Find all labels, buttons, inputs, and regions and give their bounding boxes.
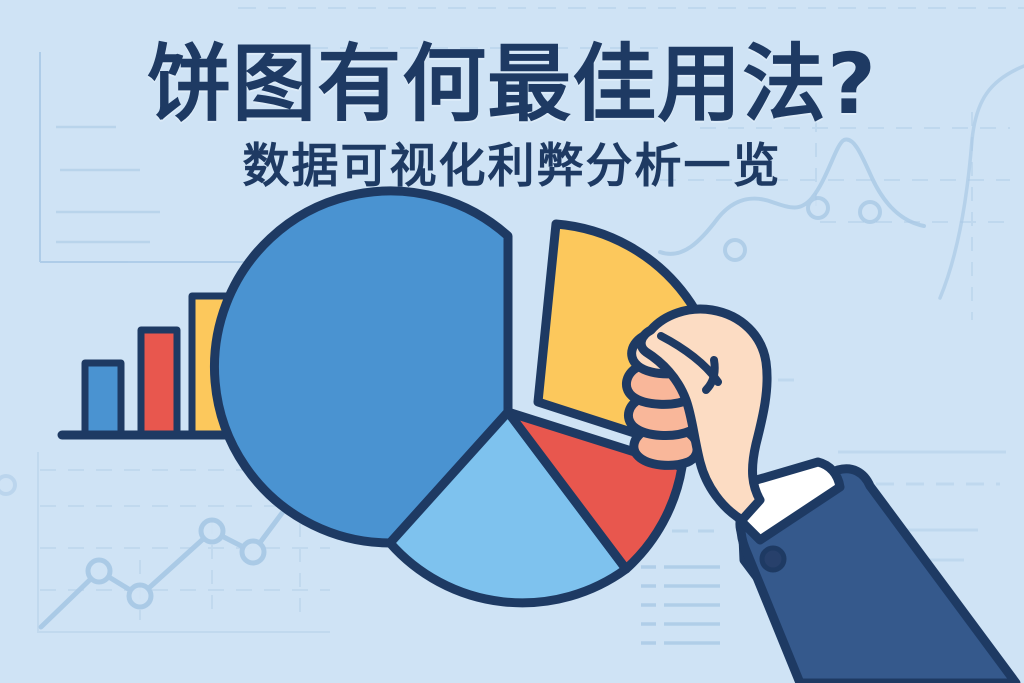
hand-and-sleeve-layer xyxy=(0,0,1024,683)
grabbing-hand xyxy=(626,309,767,520)
poster-canvas: .dl { stroke:#a9c9e6; fill:none; } .dls … xyxy=(0,0,1024,683)
sleeve-button xyxy=(762,548,784,570)
